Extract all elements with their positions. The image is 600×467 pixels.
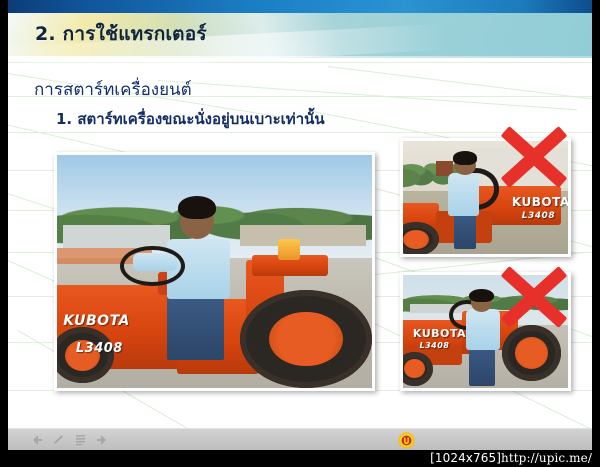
- viewer-toolbar[interactable]: [8, 428, 592, 451]
- source-url-label: http://upic.me/: [501, 451, 592, 465]
- body-heading: การสตาร์ทเครื่องยนต์: [34, 76, 325, 103]
- photo-correct-seated: KUBOTA L3408: [54, 152, 375, 391]
- slide-body: การสตาร์ทเครื่องยนต์ 1. สตาร์ทเครื่องขณะ…: [34, 76, 325, 131]
- footer-info: [1024x765]http://upic.me/: [430, 451, 592, 465]
- arrow-right-icon[interactable]: [96, 434, 109, 446]
- upic-logo-icon[interactable]: [398, 432, 415, 449]
- body-item-1: 1. สตาร์ทเครื่องขณะนั่งอยู่บนเบาะเท่านั้…: [56, 107, 325, 131]
- arrow-left-icon[interactable]: [30, 434, 43, 446]
- pencil-icon[interactable]: [52, 434, 65, 446]
- image-viewer: 2. การใช้แทรกเตอร์ การสตาร์ทเครื่องยนต์ …: [0, 0, 600, 467]
- photo-wrong-standing-side: KUBOTA L3408: [400, 138, 571, 257]
- page-title: 2. การใช้แทรกเตอร์: [35, 19, 207, 49]
- slide-canvas: 2. การใช้แทรกเตอร์ การสตาร์ทเครื่องยนต์ …: [8, 0, 592, 428]
- list-icon[interactable]: [74, 434, 87, 446]
- photo-wrong-standing-rear: KUBOTA L3408: [400, 272, 571, 391]
- slide-top-accent-bar: [8, 0, 592, 13]
- image-resolution-label: [1024x765]: [430, 451, 501, 465]
